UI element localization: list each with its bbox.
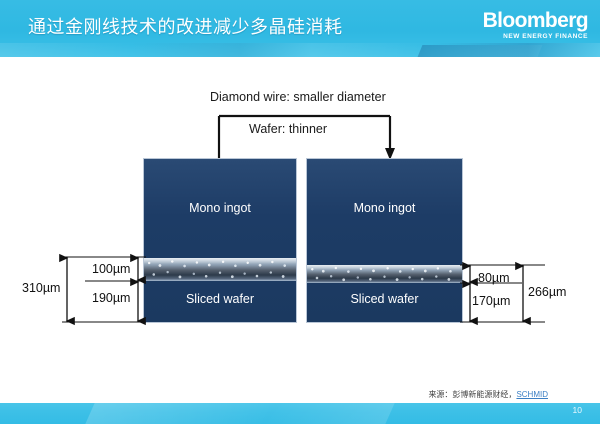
slide-header: 通过金刚线技术的改进减少多晶硅消耗 Bloomberg NEW ENERGY F… bbox=[0, 0, 600, 57]
bloomberg-logo: Bloomberg NEW ENERGY FINANCE bbox=[483, 10, 588, 41]
kerf-band-left bbox=[144, 258, 296, 281]
slide-canvas: 通过金刚线技术的改进减少多晶硅消耗 Bloomberg NEW ENERGY F… bbox=[0, 0, 600, 424]
page-title: 通过金刚线技术的改进减少多晶硅消耗 bbox=[28, 14, 343, 40]
ingot-block-right: Mono ingot Sliced wafer bbox=[307, 159, 462, 322]
page-number: 10 bbox=[573, 405, 582, 415]
slide-footer-bar bbox=[0, 403, 600, 424]
header-sheen-accent bbox=[418, 45, 543, 57]
dimension-label-kerf-right: 80µm bbox=[478, 271, 510, 285]
logo-tagline: NEW ENERGY FINANCE bbox=[483, 32, 588, 41]
kerf-left-speckle-top bbox=[144, 259, 296, 269]
dimension-label-kerf-left: 100µm bbox=[92, 262, 130, 276]
dimension-label-total-right: 266µm bbox=[528, 285, 566, 299]
source-link-schmid[interactable]: SCHMID bbox=[516, 390, 548, 399]
kerf-band-right bbox=[307, 265, 462, 283]
kerf-left-speckle-bottom bbox=[144, 269, 296, 280]
ingot-right-wafer-label: Sliced wafer bbox=[307, 292, 462, 306]
footer-sheen bbox=[85, 403, 394, 424]
ingot-left-mono-label: Mono ingot bbox=[144, 201, 296, 215]
dimension-label-wafer-right: 170µm bbox=[472, 294, 510, 308]
ingot-left-wafer-label: Sliced wafer bbox=[144, 292, 296, 306]
source-note: 来源：彭博新能源财经，SCHMID bbox=[428, 389, 548, 400]
logo-brand: Bloomberg bbox=[483, 10, 588, 31]
dimension-label-total-left: 310µm bbox=[22, 281, 60, 295]
callout-diamond-wire: Diamond wire: smaller diameter bbox=[210, 90, 386, 104]
ingot-right-mono-label: Mono ingot bbox=[307, 201, 462, 215]
transition-arrow-bracket bbox=[210, 112, 400, 162]
kerf-right-speckle-bottom bbox=[307, 274, 462, 283]
dimension-lines bbox=[0, 0, 600, 424]
ingot-block-left: Mono ingot Sliced wafer bbox=[144, 159, 296, 322]
source-prefix: 来源：彭博新能源财经， bbox=[428, 390, 516, 399]
dimension-label-wafer-left: 190µm bbox=[92, 291, 130, 305]
